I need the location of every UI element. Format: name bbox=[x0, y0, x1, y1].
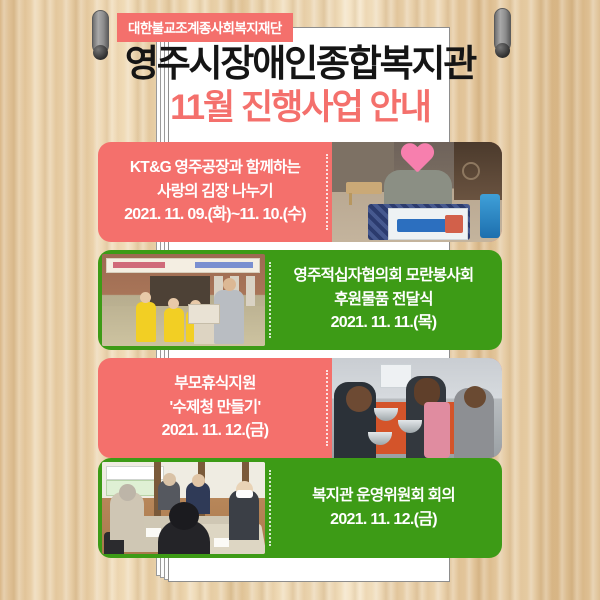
photo-volunteer-head bbox=[168, 298, 179, 309]
program-title-line: 복지관 운영위원회 회의 bbox=[312, 484, 455, 508]
program-date: 2021. 11. 09.(화)~11. 10.(수) bbox=[124, 203, 306, 227]
program-card-1: KT&G 영주공장과 함께하는 사랑의 김장 나누기 2021. 11. 09.… bbox=[98, 142, 502, 242]
photo-attendee bbox=[229, 490, 259, 540]
photo-volunteer bbox=[164, 308, 184, 342]
program-title-line: '수제청 만들기' bbox=[170, 396, 261, 420]
photo-attendee bbox=[110, 492, 144, 540]
photo-banner bbox=[106, 258, 260, 273]
program-date: 2021. 11. 12.(금) bbox=[162, 419, 269, 443]
page-subtitle: 11월 진행사업 안내 bbox=[0, 90, 600, 125]
photo-cabinet bbox=[454, 142, 502, 200]
photo-gift-box bbox=[188, 304, 220, 324]
photo-volunteer-head bbox=[140, 292, 151, 303]
page-title: 영주시장애인종합복지관 bbox=[0, 45, 600, 82]
committee-meeting-photo bbox=[102, 462, 265, 554]
dotted-divider bbox=[326, 370, 328, 446]
program-card-3: 부모휴식지원 '수제청 만들기' 2021. 11. 12.(금) bbox=[98, 358, 502, 458]
program-title-line: KT&G 영주공장과 함께하는 bbox=[130, 156, 300, 180]
program-title-line: 영주적십자협의회 모란봉사회 bbox=[294, 264, 474, 288]
program-text-3: 부모휴식지원 '수제청 만들기' 2021. 11. 12.(금) bbox=[98, 358, 332, 458]
photo-volunteer bbox=[136, 302, 156, 342]
photo-participant bbox=[454, 388, 494, 458]
photo-blue-bag bbox=[480, 194, 500, 238]
donation-ceremony-photo bbox=[102, 254, 265, 346]
program-date: 2021. 11. 11.(목) bbox=[331, 311, 437, 335]
photo-box-label bbox=[397, 219, 447, 232]
program-card-4: 복지관 운영위원회 회의 2021. 11. 12.(금) bbox=[98, 458, 502, 558]
photo-kimchi-box bbox=[388, 208, 468, 240]
program-text-4: 복지관 운영위원회 회의 2021. 11. 12.(금) bbox=[265, 458, 502, 558]
photo-participant bbox=[334, 382, 376, 458]
photo-document bbox=[214, 538, 229, 547]
program-card-2: 영주적십자협의회 모란봉사회 후원물품 전달식 2021. 11. 11.(목) bbox=[98, 250, 502, 350]
photo-apron bbox=[424, 402, 450, 458]
program-text-2: 영주적십자협의회 모란봉사회 후원물품 전달식 2021. 11. 11.(목) bbox=[265, 250, 502, 350]
photo-attendee bbox=[158, 520, 210, 554]
program-title-line: 후원물품 전달식 bbox=[334, 288, 433, 312]
photo-stool bbox=[346, 182, 382, 194]
cooking-class-photo bbox=[332, 358, 502, 458]
poster-root: 대한불교조계종사회복지재단 영주시장애인종합복지관 11월 진행사업 안내 KT… bbox=[0, 0, 600, 600]
dotted-divider bbox=[269, 262, 271, 338]
photo-box-image bbox=[445, 215, 463, 233]
dotted-divider bbox=[269, 470, 271, 546]
organization-badge: 대한불교조계종사회복지재단 bbox=[117, 13, 293, 42]
heart-mask-icon bbox=[400, 144, 434, 174]
program-date: 2021. 11. 12.(금) bbox=[330, 508, 437, 532]
dotted-divider bbox=[326, 154, 328, 230]
program-text-1: KT&G 영주공장과 함께하는 사랑의 김장 나누기 2021. 11. 09.… bbox=[98, 142, 332, 242]
program-title-line: 사랑의 김장 나누기 bbox=[157, 180, 273, 204]
kimchi-sharing-photo bbox=[332, 142, 502, 242]
program-title-line: 부모휴식지원 bbox=[174, 372, 255, 396]
